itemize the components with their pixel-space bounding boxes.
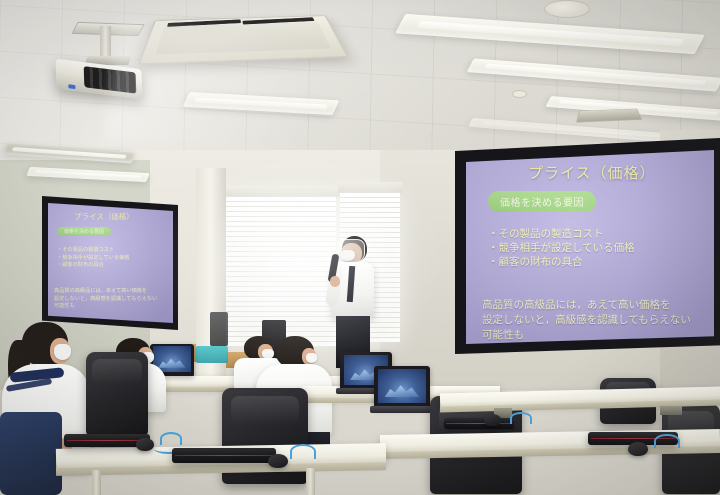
- slide-bullet: ・競争相手が設定している価格: [488, 241, 635, 255]
- slide-footer-line: 可能性も: [54, 303, 157, 311]
- slide-footer-line: 高品質の高級品には，あえて高い価格を: [54, 288, 157, 296]
- face-mask: [306, 353, 317, 363]
- office-chair[interactable]: [0, 412, 62, 495]
- laptop-screen: [374, 366, 430, 408]
- face-mask: [340, 250, 355, 261]
- secondary-projection-screen: プライス（価格） 価格を決める要因 ・その製品の製造コスト ・競争相手が設定して…: [48, 203, 173, 323]
- desk-bracket: [660, 406, 682, 415]
- slide-bullets: ・その製品の製造コスト ・競争相手が設定している価格 ・顧客の財布の具合: [57, 247, 129, 270]
- projector-indicator-led: [68, 84, 75, 89]
- ceiling-mounted-projector: [48, 26, 178, 96]
- slide-footer-line: 設定しないと，高級感を認識してもらえない: [54, 296, 157, 304]
- headphones: [510, 412, 532, 424]
- computer-mouse: [484, 414, 501, 426]
- wallpaper-mountain-graphic: [385, 383, 420, 397]
- main-projection-screen: プライス（価格） 価格を決める要因 ・その製品の製造コスト ・競争相手が設定して…: [466, 150, 714, 344]
- pc-tower: [210, 312, 228, 346]
- presenter-hand: [330, 276, 340, 287]
- slide-footer-line: 高品質の高級品には，あえて高い価格を: [482, 298, 691, 313]
- slide-title: プライス（価格）: [528, 162, 656, 183]
- slide-bullet: ・競争相手が設定している価格: [57, 255, 129, 263]
- slide-footer-line: 設定しないと，高級感を認識してもらえない: [482, 313, 691, 328]
- storage-basket: [196, 346, 228, 363]
- slide-bullet: ・顧客の財布の具合: [488, 255, 635, 269]
- computer-mouse: [628, 442, 648, 456]
- projector-lens: [84, 66, 137, 94]
- classroom-scene: プライス（価格） 価格を決める要因 ・その製品の製造コスト ・競争相手が設定して…: [0, 0, 720, 495]
- laptop-wallpaper: [378, 369, 426, 403]
- laptop-base: [370, 406, 434, 413]
- headphones: [654, 434, 680, 448]
- smoke-detector-icon: [512, 90, 527, 98]
- slide-bullet: ・その製品の製造コスト: [57, 247, 129, 255]
- slide-footer-note: 高品質の高級品には，あえて高い価格を 設定しないと，高級感を認識してもらえない …: [482, 298, 691, 343]
- desk-leg: [306, 468, 315, 495]
- slide-bullets: ・その製品の製造コスト ・競争相手が設定している価格 ・顧客の財布の具合: [488, 227, 635, 269]
- projector-body: [56, 59, 143, 100]
- slide-title: プライス（価格）: [74, 211, 134, 222]
- desk-leg: [92, 470, 101, 495]
- headphones: [290, 444, 316, 459]
- computer-mouse: [268, 454, 288, 468]
- face-mask: [54, 344, 71, 360]
- laptop-closed: [172, 448, 276, 463]
- slide-section-chip: 価格を決める要因: [57, 227, 111, 236]
- ceiling-speaker-icon: [544, 0, 590, 18]
- laptop-open: [374, 366, 430, 408]
- slide-section-chip: 価格を決める要因: [488, 191, 596, 212]
- office-chair[interactable]: [86, 352, 148, 436]
- projector-pole: [100, 26, 111, 60]
- slide-bullet: ・その製品の製造コスト: [488, 227, 635, 241]
- ac-diffuser: [155, 22, 330, 55]
- computer-mouse: [136, 438, 154, 451]
- slide-bullet: ・顧客の財布の具合: [57, 262, 129, 270]
- laptop-closed: [444, 418, 514, 429]
- slide-footer-note: 高品質の高級品には，あえて高い価格を 設定しないと，高級感を認識してもらえない …: [54, 288, 157, 311]
